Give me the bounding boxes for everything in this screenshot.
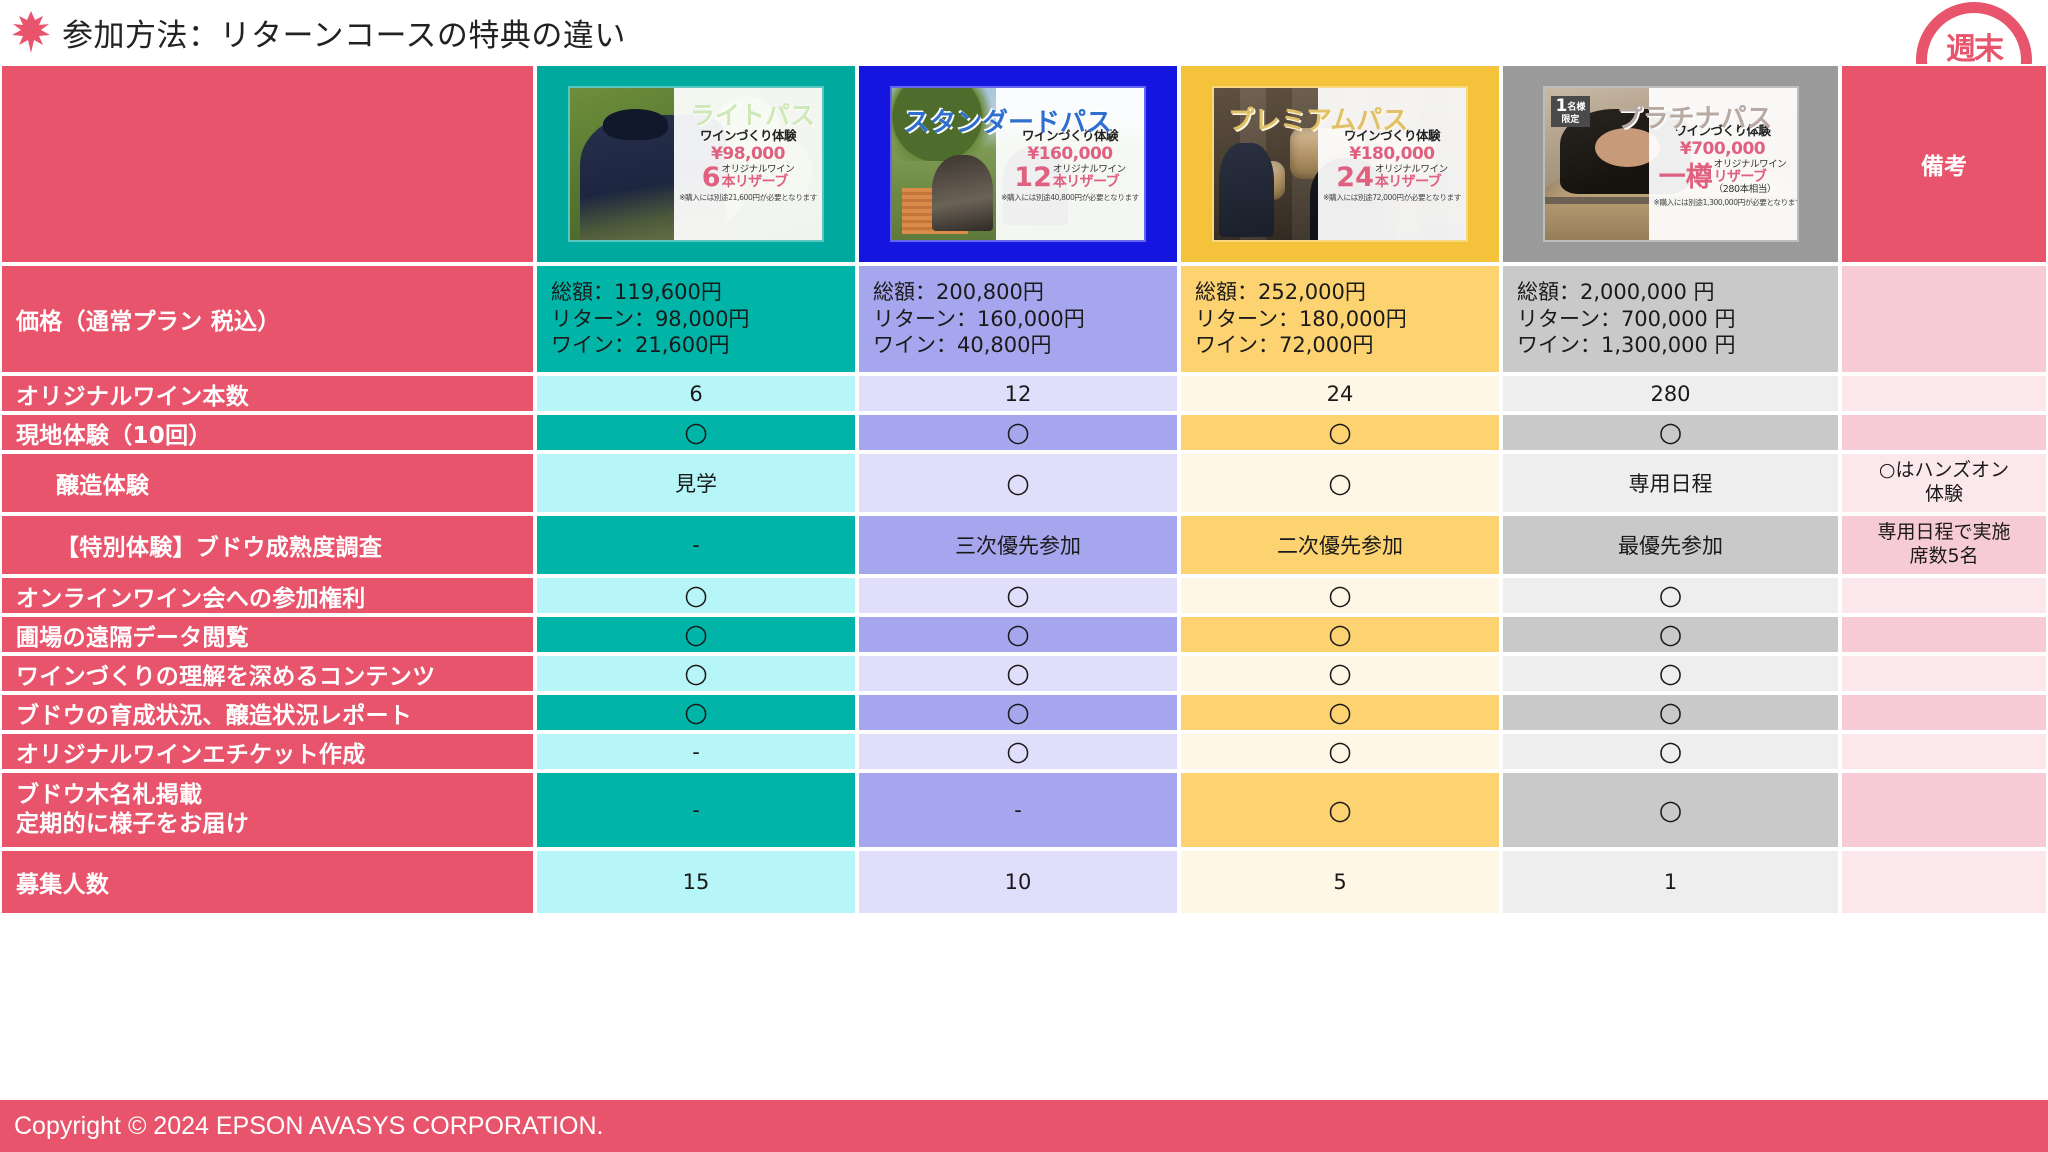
cell-premium: 24 <box>1179 374 1501 413</box>
cell-standard: 10 <box>857 849 1179 915</box>
header-cell-standard-pass: ワインづくり体験 ¥160,000 12 オリジナルワイン 本リザーブ ※購入に… <box>857 64 1179 264</box>
table-row: 現地体験（10回）○○○○ <box>0 413 2048 452</box>
table-header-row: ワインづくり体験 ¥98,000 6 オリジナルワイン 本リザーブ ※購入には別… <box>0 64 2048 264</box>
cell-standard: 12 <box>857 374 1179 413</box>
cell-light: ○ <box>535 413 857 452</box>
header-cell-premium-pass: ワインづくり体験 ¥180,000 24 オリジナルワイン 本リザーブ ※購入に… <box>1179 64 1501 264</box>
cell-standard: ○ <box>857 732 1179 771</box>
price-line: ワイン：40,800円 <box>873 332 1051 359</box>
price-line: ワイン：72,000円 <box>1195 332 1373 359</box>
cell-premium: 二次優先参加 <box>1179 514 1501 576</box>
row-label: ブドウ木名札掲載定期的に様子をお届け <box>0 771 535 849</box>
cell-remarks <box>1840 732 2048 771</box>
pass-footnote: ※購入には別途72,000円が必要となります <box>1323 192 1461 203</box>
price-line: リターン：180,000円 <box>1195 306 1407 333</box>
price-line: 総額：2,000,000 円 <box>1517 279 1715 306</box>
shumatsu-logo: 週末 <box>1908 0 2040 68</box>
cell-light: - <box>535 771 857 849</box>
price-line: 総額：200,800円 <box>873 279 1044 306</box>
cell-premium: ○ <box>1179 693 1501 732</box>
cell-standard: 三次優先参加 <box>857 514 1179 576</box>
cell-remarks <box>1840 264 2048 374</box>
cell-premium: ○ <box>1179 771 1501 849</box>
pass-price: ¥160,000 <box>1001 144 1139 164</box>
pass-unit-bottom: リザーブ <box>1714 170 1787 185</box>
cell-premium: 総額：252,000円リターン：180,000円ワイン：72,000円 <box>1179 264 1501 374</box>
pass-unit-bottom: 本リザーブ <box>1053 175 1126 190</box>
cell-standard: - <box>857 771 1179 849</box>
table-row: オリジナルワインエチケット作成-○○○ <box>0 732 2048 771</box>
cell-premium: ○ <box>1179 576 1501 615</box>
pass-title-platinum: プラチナパス <box>1617 98 1773 135</box>
table-row: 圃場の遠隔データ閲覧○○○○ <box>0 615 2048 654</box>
header-cell-remarks: 備考 <box>1840 64 2048 264</box>
row-label: オリジナルワイン本数 <box>0 374 535 413</box>
cell-remarks <box>1840 693 2048 732</box>
pass-footnote: ※購入には別途21,600円が必要となります <box>679 192 817 203</box>
pass-limit-number: 1 <box>1556 98 1568 116</box>
cell-platinum: ○ <box>1501 576 1840 615</box>
cell-standard: ○ <box>857 693 1179 732</box>
pass-card-light: ワインづくり体験 ¥98,000 6 オリジナルワイン 本リザーブ ※購入には別… <box>570 88 822 240</box>
row-label: 価格（通常プラン 税込） <box>0 264 535 374</box>
cell-premium: 5 <box>1179 849 1501 915</box>
pass-card-premium: ワインづくり体験 ¥180,000 24 オリジナルワイン 本リザーブ ※購入に… <box>1214 88 1466 240</box>
header-cell-light-pass: ワインづくり体験 ¥98,000 6 オリジナルワイン 本リザーブ ※購入には別… <box>535 64 857 264</box>
cell-light: 見学 <box>535 452 857 514</box>
pass-card-standard: ワインづくり体験 ¥160,000 12 オリジナルワイン 本リザーブ ※購入に… <box>892 88 1144 240</box>
cell-standard: ○ <box>857 452 1179 514</box>
cell-remarks <box>1840 576 2048 615</box>
pass-bottle-count: 一樽 <box>1659 165 1713 191</box>
cell-light: - <box>535 732 857 771</box>
cell-platinum: ○ <box>1501 771 1840 849</box>
table-row: 価格（通常プラン 税込）総額：119,600円リターン：98,000円ワイン：2… <box>0 264 2048 374</box>
cell-platinum: ○ <box>1501 615 1840 654</box>
cell-light: 総額：119,600円リターン：98,000円ワイン：21,600円 <box>535 264 857 374</box>
row-label: オリジナルワインエチケット作成 <box>0 732 535 771</box>
table-row: 【特別体験】ブドウ成熟度調査-三次優先参加二次優先参加最優先参加専用日程で実施席… <box>0 514 2048 576</box>
cell-premium: ○ <box>1179 732 1501 771</box>
cell-platinum: 最優先参加 <box>1501 514 1840 576</box>
table-row: 募集人数151051 <box>0 849 2048 915</box>
table-row: 醸造体験見学○○専用日程○はハンズオン体験 <box>0 452 2048 514</box>
price-line: 総額：252,000円 <box>1195 279 1366 306</box>
pass-limit-badge: 1名様限定 <box>1551 96 1591 127</box>
cell-platinum: 1 <box>1501 849 1840 915</box>
price-line: ワイン：1,300,000 円 <box>1517 332 1736 359</box>
pass-unit-bottom: 本リザーブ <box>1375 175 1448 190</box>
row-label: 圃場の遠隔データ閲覧 <box>0 615 535 654</box>
row-label: オンラインワイン会への参加権利 <box>0 576 535 615</box>
row-label: ブドウの育成状況、醸造状況レポート <box>0 693 535 732</box>
cell-remarks <box>1840 654 2048 693</box>
cell-platinum: 総額：2,000,000 円リターン：700,000 円ワイン：1,300,00… <box>1501 264 1840 374</box>
price-line: ワイン：21,600円 <box>551 332 729 359</box>
maple-leaf-mark-icon <box>8 9 54 55</box>
cell-standard: ○ <box>857 615 1179 654</box>
cell-standard: ○ <box>857 654 1179 693</box>
cell-premium: ○ <box>1179 452 1501 514</box>
cell-remarks <box>1840 374 2048 413</box>
slide-root: 参加方法：リターンコースの特典の違い 週末 ワインづくり体験 ¥98,000 <box>0 0 2048 1152</box>
pass-price: ¥98,000 <box>679 144 817 164</box>
cell-premium: ○ <box>1179 615 1501 654</box>
table-row: ワインづくりの理解を深めるコンテンツ○○○○ <box>0 654 2048 693</box>
pass-card-platinum: 1名様限定 ワインづくり体験 ¥700,000 一樽 オリジナルワイン リザーブ… <box>1545 88 1797 240</box>
cell-light: ○ <box>535 576 857 615</box>
cell-platinum: ○ <box>1501 693 1840 732</box>
cell-light: 6 <box>535 374 857 413</box>
cell-platinum: 専用日程 <box>1501 452 1840 514</box>
cell-platinum: ○ <box>1501 413 1840 452</box>
cell-light: ○ <box>535 615 857 654</box>
row-label: 募集人数 <box>0 849 535 915</box>
header-empty-cell <box>0 64 535 264</box>
cell-light: 15 <box>535 849 857 915</box>
pass-bottle-count: 24 <box>1336 165 1374 191</box>
pass-price: ¥180,000 <box>1323 144 1461 164</box>
pass-title-standard: スタンダードパス <box>904 102 1112 139</box>
pass-unit-note: （280本相当） <box>1714 185 1787 195</box>
pass-limit-l2: 限定 <box>1561 115 1579 125</box>
row-label: 現地体験（10回） <box>0 413 535 452</box>
price-line: リターン：160,000円 <box>873 306 1085 333</box>
cell-light: ○ <box>535 654 857 693</box>
pass-price: ¥700,000 <box>1654 139 1792 159</box>
table-row: ブドウ木名札掲載定期的に様子をお届け--○○ <box>0 771 2048 849</box>
row-label: ワインづくりの理解を深めるコンテンツ <box>0 654 535 693</box>
cell-platinum: ○ <box>1501 732 1840 771</box>
header-cell-platinum-pass: 1名様限定 ワインづくり体験 ¥700,000 一樽 オリジナルワイン リザーブ… <box>1501 64 1840 264</box>
cell-remarks <box>1840 413 2048 452</box>
pass-footnote: ※購入には別途40,800円が必要となります <box>1001 192 1139 203</box>
table-row: オンラインワイン会への参加権利○○○○ <box>0 576 2048 615</box>
cell-premium: ○ <box>1179 413 1501 452</box>
cell-remarks: ○はハンズオン体験 <box>1840 452 2048 514</box>
cell-platinum: ○ <box>1501 654 1840 693</box>
pass-title-light: ライトパス <box>690 96 815 132</box>
page-title: 参加方法：リターンコースの特典の違い <box>62 10 626 55</box>
slide-header: 参加方法：リターンコースの特典の違い 週末 <box>0 0 2048 64</box>
cell-remarks <box>1840 849 2048 915</box>
cell-light: ○ <box>535 693 857 732</box>
logo-kanji: 週末 <box>1908 24 2040 68</box>
cell-platinum: 280 <box>1501 374 1840 413</box>
comparison-table: ワインづくり体験 ¥98,000 6 オリジナルワイン 本リザーブ ※購入には別… <box>0 64 2048 1088</box>
pass-bottle-count: 6 <box>702 165 721 191</box>
cell-remarks <box>1840 615 2048 654</box>
pass-limit-l1: 名様 <box>1567 102 1585 112</box>
pass-title-premium: プレミアムパス <box>1228 100 1408 137</box>
row-label: 醸造体験 <box>0 452 535 514</box>
cell-remarks: 専用日程で実施席数5名 <box>1840 514 2048 576</box>
price-line: リターン：700,000 円 <box>1517 306 1735 333</box>
row-label: 【特別体験】ブドウ成熟度調査 <box>0 514 535 576</box>
pass-unit-bottom: 本リザーブ <box>721 175 794 190</box>
pass-bottle-count: 12 <box>1014 165 1052 191</box>
cell-remarks <box>1840 771 2048 849</box>
price-line: リターン：98,000円 <box>551 306 749 333</box>
cell-standard: ○ <box>857 413 1179 452</box>
cell-light: - <box>535 514 857 576</box>
cell-standard: 総額：200,800円リターン：160,000円ワイン：40,800円 <box>857 264 1179 374</box>
pass-footnote: ※購入には別途1,300,000円が必要となります <box>1654 197 1792 208</box>
footer-copyright: Copyright © 2024 EPSON AVASYS CORPORATIO… <box>0 1100 2048 1152</box>
table-row: ブドウの育成状況、醸造状況レポート○○○○ <box>0 693 2048 732</box>
cell-premium: ○ <box>1179 654 1501 693</box>
table-row: オリジナルワイン本数61224280 <box>0 374 2048 413</box>
price-line: 総額：119,600円 <box>551 279 722 306</box>
cell-standard: ○ <box>857 576 1179 615</box>
